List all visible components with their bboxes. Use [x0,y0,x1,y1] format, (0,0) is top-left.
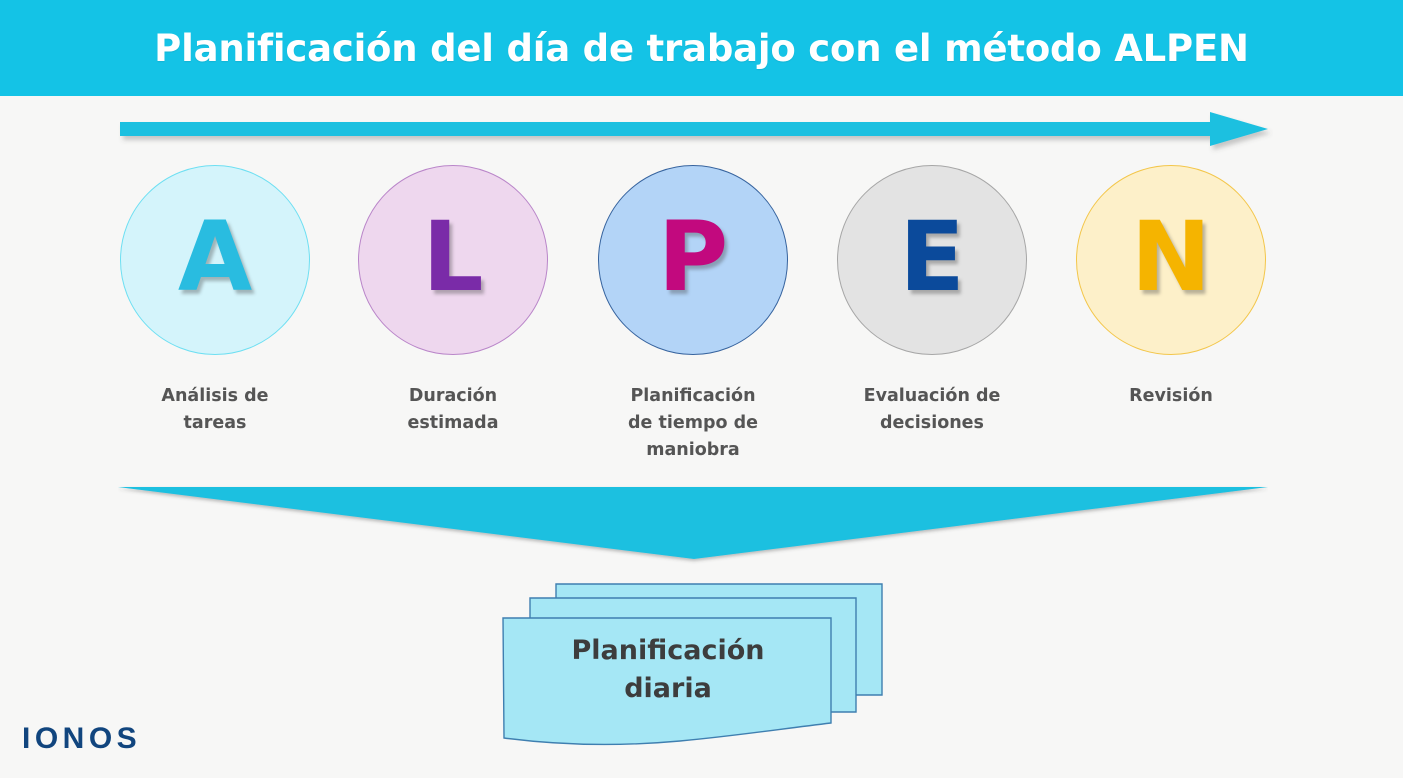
step-letter-n: N [1131,209,1211,305]
step-letter-l: L [422,209,483,305]
page-title: Planificación del día de trabajo con el … [0,0,1403,96]
step-label-e-line2: decisiones [817,410,1047,437]
step-circle-e[interactable]: E [837,165,1027,355]
step-label-n: Revisión [1056,383,1286,410]
result-card-stack[interactable] [490,575,900,750]
step-label-p-line3: maniobra [578,437,808,464]
step-label-e: Evaluación de decisiones [817,383,1047,437]
step-letter-p: P [658,209,728,305]
step-circle-a[interactable]: A [120,165,310,355]
step-label-a: Análisis de tareas [100,383,330,437]
step-letter-a: A [178,209,252,305]
funnel-shape [118,487,1268,559]
circle-shape-p: P [598,165,788,355]
step-circle-n[interactable]: N [1076,165,1266,355]
ionos-logo: IONOS [22,722,141,756]
step-letter-e: E [899,209,965,305]
step-label-l-line2: estimada [338,410,568,437]
step-label-l-line1: Duración [338,383,568,410]
step-circles: A L P E N [0,165,1403,365]
arrow-shape [120,112,1268,146]
step-label-p: Planificación de tiempo de maniobra [578,383,808,464]
circle-shape-l: L [358,165,548,355]
step-circle-p[interactable]: P [598,165,788,355]
progress-arrow [118,112,1273,164]
step-label-e-line1: Evaluación de [817,383,1047,410]
circle-shape-n: N [1076,165,1266,355]
step-label-p-line1: Planificación [578,383,808,410]
step-label-p-line2: de tiempo de [578,410,808,437]
step-circle-l[interactable]: L [358,165,548,355]
step-label-n-line1: Revisión [1056,383,1286,410]
step-label-l: Duración estimada [338,383,568,437]
step-label-a-line1: Análisis de [100,383,330,410]
step-label-a-line2: tareas [100,410,330,437]
circle-shape-e: E [837,165,1027,355]
step-labels: Análisis de tareas Duración estimada Pla… [0,383,1403,483]
circle-shape-a: A [120,165,310,355]
infographic-canvas: Planificación del día de trabajo con el … [0,0,1403,778]
result-card-front [503,618,831,744]
funnel-arrow [118,483,1268,565]
